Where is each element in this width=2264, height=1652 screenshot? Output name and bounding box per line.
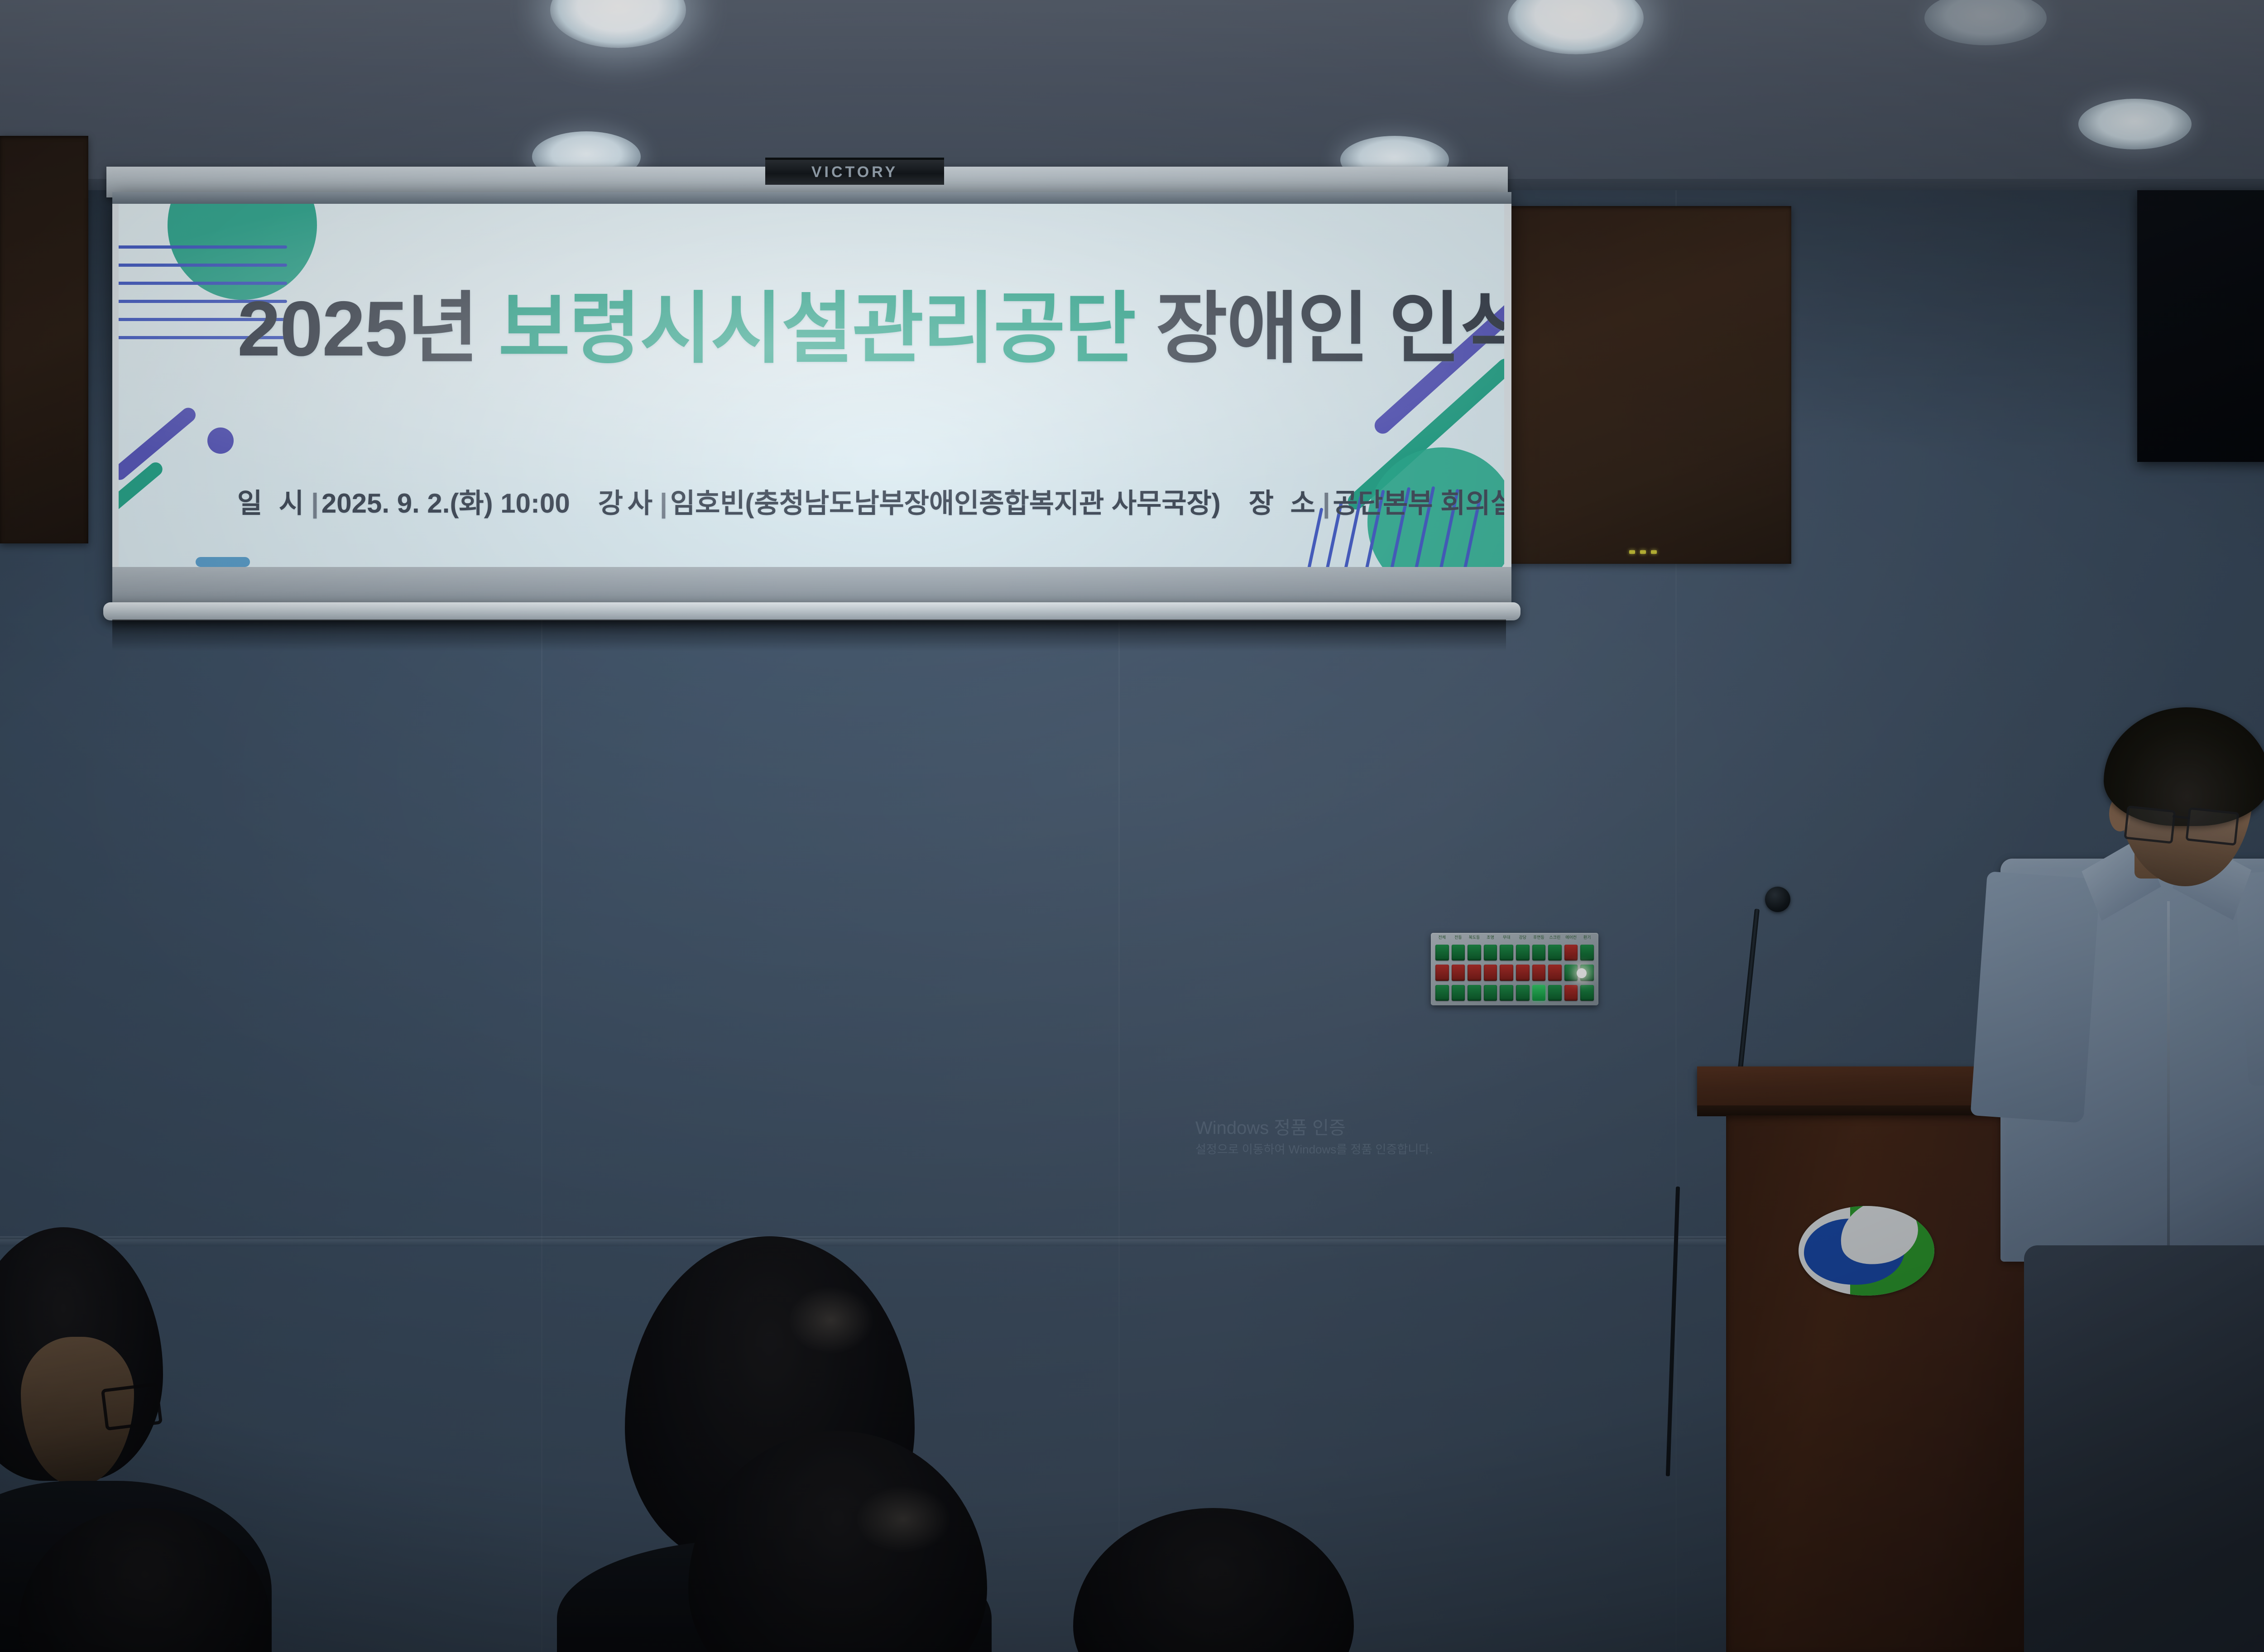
switch-button[interactable] [1516, 965, 1530, 980]
meta-speaker-label: 강사 [598, 488, 657, 519]
switch-button[interactable] [1500, 945, 1513, 960]
switch-button[interactable] [1564, 945, 1578, 960]
switch-button[interactable] [1548, 965, 1562, 980]
switch-row-2 [1435, 965, 1594, 980]
meta-sep-1: | [308, 488, 321, 519]
switch-label-8: 에어컨 [1564, 934, 1578, 940]
switch-button[interactable] [1468, 965, 1481, 980]
audience-hair-highlight-2 [788, 1286, 874, 1354]
watermark-line-1: Windows 정품 인증 [1195, 1115, 1540, 1141]
room-photo-scene: VICTORY [0, 0, 2264, 1652]
switch-panel-indicator-lamp [1577, 968, 1587, 978]
switch-button[interactable] [1548, 985, 1562, 1001]
presenter [1952, 697, 2264, 1652]
switch-button[interactable] [1435, 985, 1449, 1001]
switch-button[interactable] [1580, 985, 1594, 1001]
switch-row-1 [1435, 945, 1594, 960]
equipment-led-1 [1629, 550, 1635, 554]
switch-row-3 [1435, 985, 1594, 1001]
wall-light-switch-panel[interactable]: 전체 전등 복도등 조명 무대 강당 후면등 스크린 에어컨 환기 [1431, 933, 1598, 1005]
watermark-line-2: 설정으로 이동하여 Windows를 정품 인증합니다. [1195, 1141, 1540, 1158]
presenter-shirt-placket [2167, 901, 2170, 1245]
switch-button[interactable] [1548, 945, 1562, 960]
presenter-trousers [2024, 1245, 2264, 1652]
meta-place-value: 공단본부 회의실 [1333, 488, 1504, 519]
slide-title-part-subject: 장애인 인식 개선 교육 [1135, 285, 1504, 372]
switch-button[interactable] [1468, 985, 1481, 1001]
switch-button[interactable] [1564, 965, 1578, 980]
projected-slide: 2025년 보령시시설관리공단 장애인 인식 개선 교육 일 시|2025. 9… [119, 204, 1504, 567]
audience-glasses-1 [101, 1383, 163, 1431]
switch-label-6: 후면등 [1532, 934, 1546, 940]
switch-button[interactable] [1452, 985, 1465, 1001]
slide-meta-line: 일 시|2025. 9. 2.(화) 10:00강사|임호빈(충청남도남부장애인… [237, 490, 1504, 517]
wall-wood-panel-right [1474, 206, 1791, 564]
switch-label-5: 강당 [1516, 934, 1530, 940]
windows-activation-watermark: Windows 정품 인증 설정으로 이동하여 Windows를 정품 인증합니… [1195, 1115, 1540, 1158]
slide-title: 2025년 보령시시설관리공단 장애인 인식 개선 교육 [237, 290, 1504, 368]
switch-button[interactable] [1484, 965, 1497, 980]
wall-wood-panel-left [0, 136, 88, 543]
switch-button[interactable] [1532, 965, 1546, 980]
meta-speaker-value: 임호빈(충청남도남부장애인종합복지관 사무국장) [670, 488, 1221, 519]
equipment-led-3 [1651, 550, 1657, 554]
switch-label-7: 스크린 [1548, 934, 1562, 940]
meta-date-label: 일 시 [237, 488, 308, 519]
ceiling [0, 0, 2264, 195]
screen-roller-bar [103, 602, 1521, 620]
decor-dot-purple [207, 427, 234, 454]
switch-button[interactable] [1564, 985, 1578, 1001]
switch-button[interactable] [1435, 945, 1449, 960]
switch-button[interactable] [1452, 965, 1465, 980]
decor-line-blue-1 [119, 245, 287, 249]
switch-label-2: 복도등 [1468, 934, 1481, 940]
switch-button[interactable] [1468, 945, 1481, 960]
decor-line-blue-2 [119, 264, 287, 267]
presenter-glasses-right-lens [2185, 807, 2239, 845]
switch-label-0: 전체 [1435, 934, 1449, 940]
slide-title-part-year: 2025년 [237, 285, 499, 372]
switch-label-4: 무대 [1500, 934, 1513, 940]
switch-button[interactable] [1580, 945, 1594, 960]
presenter-glasses-left-lens [2124, 806, 2176, 844]
gooseneck-mic-head [1765, 887, 1790, 912]
screen-top-border [112, 192, 1511, 204]
ceiling-downlight-5 [2078, 99, 2192, 149]
screen-drop-shadow [112, 619, 1506, 651]
switch-button[interactable] [1500, 965, 1513, 980]
decor-line-blue-3 [119, 282, 287, 285]
audience-hair-highlight-3 [856, 1485, 951, 1553]
screen-brand-plate: VICTORY [765, 158, 944, 185]
switch-button[interactable] [1500, 985, 1513, 1001]
meta-sep-2: | [657, 488, 670, 519]
wall-speaker [2137, 190, 2264, 462]
switch-button[interactable] [1532, 945, 1546, 960]
presenter-left-sleeve [1970, 871, 2100, 1123]
slide-title-part-org: 보령시시설관리공단 [499, 285, 1135, 372]
podium-left-emblem [1799, 1206, 1934, 1296]
equipment-led-2 [1640, 550, 1646, 554]
projection-screen: 2025년 보령시시설관리공단 장애인 인식 개선 교육 일 시|2025. 9… [112, 192, 1511, 609]
switch-button[interactable] [1484, 985, 1497, 1001]
switch-button[interactable] [1452, 945, 1465, 960]
switch-label-1: 전등 [1452, 934, 1465, 940]
switch-label-9: 환기 [1580, 934, 1594, 940]
switch-label-3: 조명 [1484, 934, 1497, 940]
switch-button[interactable] [1484, 945, 1497, 960]
switch-button[interactable] [1435, 965, 1449, 980]
meta-place-label: 장 소 [1249, 488, 1320, 519]
decor-accent-blue-bottomleft [196, 557, 250, 567]
meta-sep-3: | [1320, 488, 1333, 519]
switch-panel-labels: 전체 전등 복도등 조명 무대 강당 후면등 스크린 에어컨 환기 [1435, 934, 1594, 940]
switch-button-active[interactable] [1532, 985, 1546, 1001]
switch-button[interactable] [1516, 985, 1530, 1001]
switch-button[interactable] [1516, 945, 1530, 960]
meta-date-value: 2025. 9. 2.(화) 10:00 [321, 488, 570, 519]
screen-brand-label: VICTORY [811, 163, 898, 181]
